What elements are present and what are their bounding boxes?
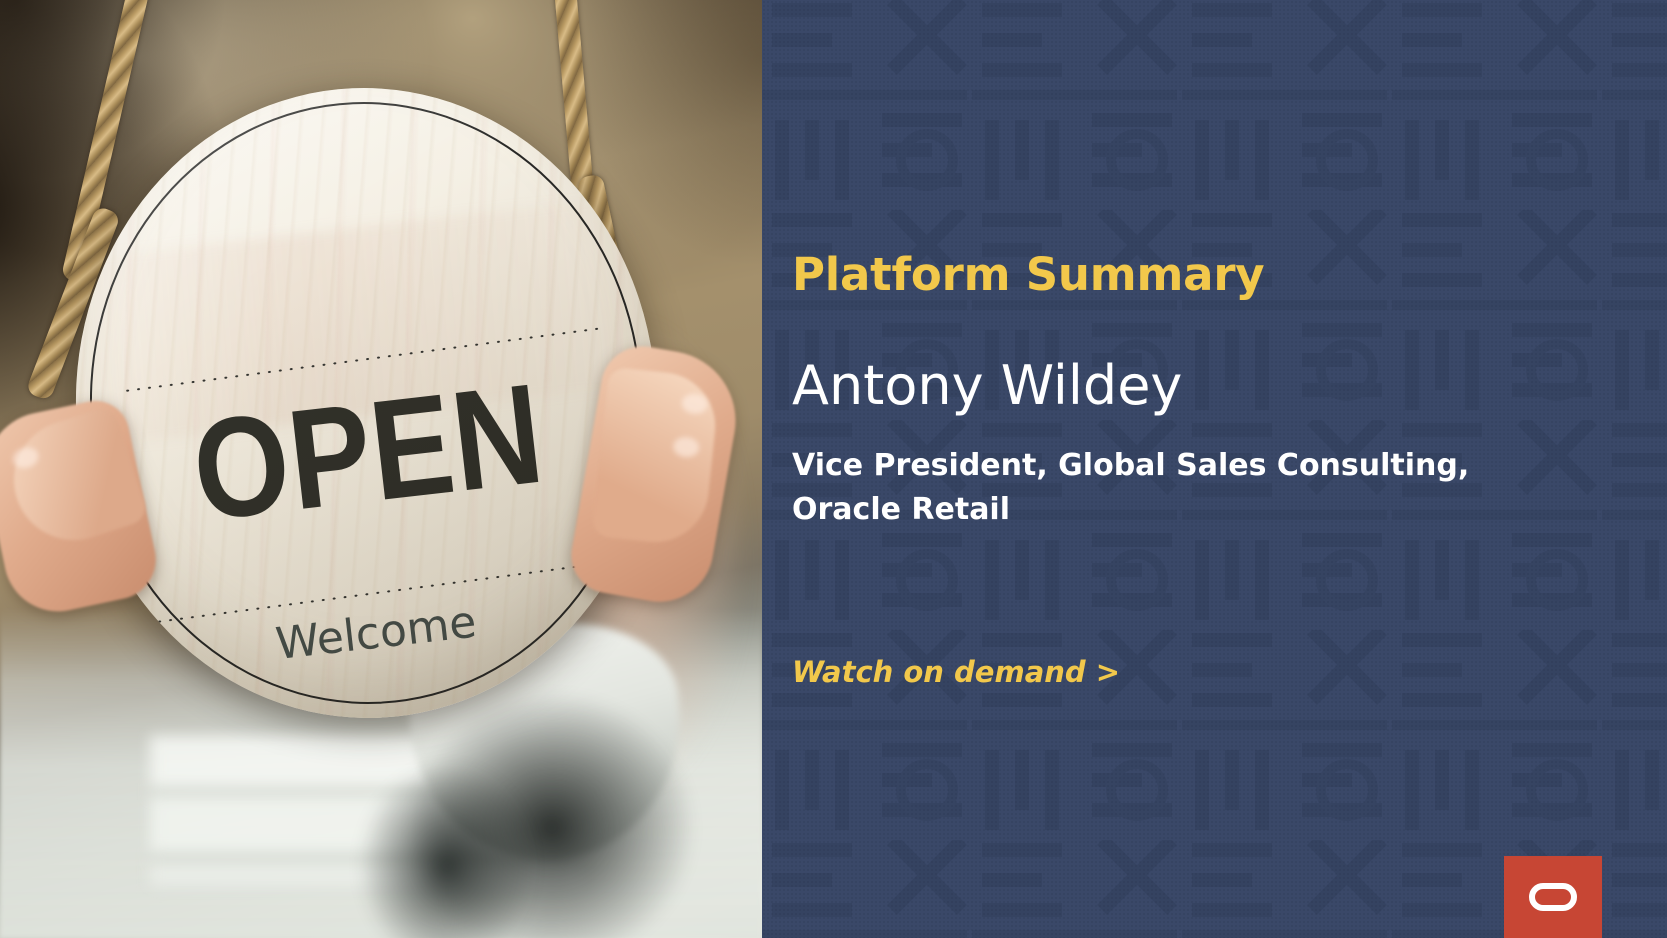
open-sign-photo: OPEN Welcome — [0, 0, 762, 938]
speaker-title-line-1: Vice President, Global Sales Consulting, — [792, 444, 1492, 488]
speaker-title: Vice President, Global Sales Consulting,… — [792, 444, 1492, 533]
fingernail — [681, 392, 709, 415]
session-kicker: Platform Summary — [792, 248, 1264, 301]
watch-on-demand-link[interactable]: Watch on demand > — [792, 655, 1120, 689]
oracle-logo — [1504, 856, 1602, 938]
wooden-open-sign: OPEN Welcome — [63, 76, 670, 731]
speaker-slide: OPEN Welcome — [0, 0, 1667, 938]
info-panel: Platform Summary Antony Wildey Vice Pres… — [762, 0, 1667, 938]
fingernail — [672, 436, 700, 459]
sign-disc: OPEN Welcome — [63, 76, 670, 731]
speaker-title-line-2: Oracle Retail — [792, 488, 1492, 532]
oracle-o-icon — [1529, 883, 1577, 911]
speaker-name: Antony Wildey — [792, 354, 1182, 417]
